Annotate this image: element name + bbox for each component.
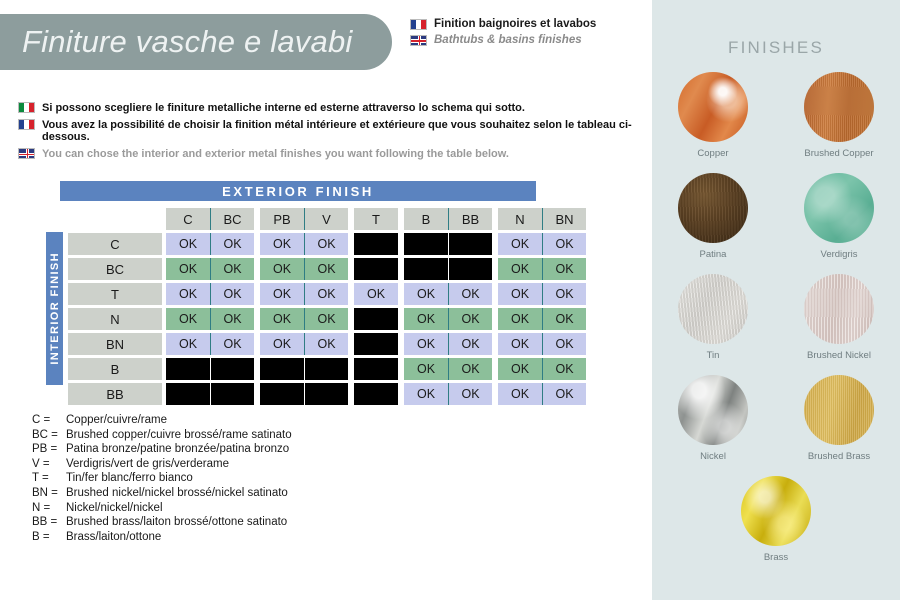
matrix-column-group: OKOK xyxy=(404,283,492,307)
matrix-column-header-b: B xyxy=(404,208,448,230)
matrix-header-row: CBCPBVTBBBNBN xyxy=(68,208,592,232)
matrix-cell-bn-bb[interactable]: OK xyxy=(448,333,492,355)
matrix-column-group xyxy=(260,358,348,382)
matrix-cell-b-n[interactable]: OK xyxy=(498,358,542,380)
matrix-cell-c-t[interactable] xyxy=(354,233,398,255)
legend-item-key: B = xyxy=(32,530,66,545)
flag-france-icon xyxy=(410,19,427,30)
matrix-cell-c-bn[interactable]: OK xyxy=(542,233,586,255)
matrix-column-group: OKOK xyxy=(166,258,254,282)
matrix-cell-b-bb[interactable]: OK xyxy=(448,358,492,380)
matrix-column-group: OKOK xyxy=(260,308,348,332)
instructions-block: Si possono scegliere le finiture metalli… xyxy=(18,102,658,165)
legend-item: BN =Brushed nickel/nickel brossé/nickel … xyxy=(32,486,292,501)
finish-swatch-brass[interactable]: Brass xyxy=(739,476,813,563)
table-row: NOKOKOKOKOKOKOKOK xyxy=(68,308,592,332)
finish-swatch-verdigris[interactable]: Verdigris xyxy=(802,173,876,260)
matrix-column-header-v: V xyxy=(304,208,348,230)
matrix-column-header-c: C xyxy=(166,208,210,230)
matrix-cell-n-c[interactable]: OK xyxy=(166,308,210,330)
matrix-column-group: OKOK xyxy=(166,233,254,257)
table-row: BOKOKOKOK xyxy=(68,358,592,382)
instruction-en: You can chose the interior and exterior … xyxy=(18,148,658,160)
legend-item: N =Nickel/nickel/nickel xyxy=(32,501,292,516)
matrix-cell-b-bn[interactable]: OK xyxy=(542,358,586,380)
matrix-column-group: OK xyxy=(354,283,398,307)
finish-swatch-row: Brass xyxy=(652,476,900,563)
finish-swatch-label: Nickel xyxy=(700,451,726,462)
swatch-circle-icon xyxy=(741,476,811,546)
legend-item-key: BC = xyxy=(32,428,66,443)
exterior-finish-banner: EXTERIOR FINISH xyxy=(60,181,536,201)
matrix-column-group: OKOK xyxy=(166,333,254,357)
matrix-column-group: OKOK xyxy=(498,358,586,382)
matrix-column-group: OKOK xyxy=(404,333,492,357)
matrix-cell-bn-t[interactable] xyxy=(354,333,398,355)
finish-swatch-brushed-copper[interactable]: Brushed Copper xyxy=(802,72,876,159)
finish-swatch-row: TinBrushed Nickel xyxy=(652,274,900,361)
matrix-column-group: CBC xyxy=(166,208,254,232)
legend-list: C =Copper/cuivre/rameBC =Brushed copper/… xyxy=(32,413,292,544)
matrix-column-group: OKOK xyxy=(498,383,586,407)
matrix-cell-c-b[interactable] xyxy=(404,233,448,255)
matrix-cell-c-pb[interactable]: OK xyxy=(260,233,304,255)
matrix-column-header-t: T xyxy=(354,208,398,230)
finish-swatch-copper[interactable]: Copper xyxy=(676,72,750,159)
swatch-circle-icon xyxy=(804,375,874,445)
matrix-column-group xyxy=(166,358,254,382)
matrix-cell-n-pb[interactable]: OK xyxy=(260,308,304,330)
matrix-column-group: OKOK xyxy=(260,333,348,357)
matrix-cell-bb-t[interactable] xyxy=(354,383,398,405)
finish-swatch-nickel[interactable]: Nickel xyxy=(676,375,750,462)
matrix-cell-n-bc[interactable]: OK xyxy=(210,308,254,330)
legend-item-value: Tin/fer blanc/ferro bianco xyxy=(66,471,193,486)
flag-italy-icon xyxy=(18,102,35,113)
matrix-column-group: OKOK xyxy=(498,258,586,282)
matrix-cell-c-c[interactable]: OK xyxy=(166,233,210,255)
legend-item-value: Brushed brass/laiton brossé/ottone satin… xyxy=(66,515,287,530)
finish-swatch-label: Brass xyxy=(764,552,788,563)
finish-swatch-patina[interactable]: Patina xyxy=(676,173,750,260)
legend-item: V =Verdigris/vert de gris/verderame xyxy=(32,457,292,472)
matrix-row-header-bc: BC xyxy=(68,258,162,280)
matrix-cell-bc-c[interactable]: OK xyxy=(166,258,210,280)
matrix-column-group: OKOK xyxy=(498,283,586,307)
matrix-cell-n-bn[interactable]: OK xyxy=(542,308,586,330)
legend-item-value: Nickel/nickel/nickel xyxy=(66,501,163,516)
legend-item-key: C = xyxy=(32,413,66,428)
matrix-column-group: OKOK xyxy=(260,283,348,307)
matrix-cell-n-n[interactable]: OK xyxy=(498,308,542,330)
matrix-column-group: OKOK xyxy=(498,333,586,357)
matrix-cell-bb-bb[interactable]: OK xyxy=(448,383,492,405)
matrix-cell-c-n[interactable]: OK xyxy=(498,233,542,255)
matrix-cell-bb-pb[interactable] xyxy=(260,383,304,405)
swatch-circle-icon xyxy=(678,72,748,142)
matrix-cell-bc-bn[interactable]: OK xyxy=(542,258,586,280)
instruction-text-en: You can chose the interior and exterior … xyxy=(42,148,509,160)
finishes-panel-title: FINISHES xyxy=(652,38,900,58)
matrix-column-group: BBB xyxy=(404,208,492,232)
legend-item-key: V = xyxy=(32,457,66,472)
page-title-bar: Finiture vasche e lavabi xyxy=(0,14,392,70)
matrix-cell-bb-b[interactable]: OK xyxy=(404,383,448,405)
page-title: Finiture vasche e lavabi xyxy=(0,24,352,60)
matrix-column-group xyxy=(354,258,398,282)
swatch-circle-icon xyxy=(804,274,874,344)
interior-finish-banner-label: INTERIOR FINISH xyxy=(49,252,61,365)
legend-item-value: Patina bronze/patine bronzée/patina bron… xyxy=(66,442,289,457)
matrix-cell-bc-t[interactable] xyxy=(354,258,398,280)
legend-item-key: PB = xyxy=(32,442,66,457)
table-row: BCOKOKOKOKOKOK xyxy=(68,258,592,282)
matrix-column-group: OKOK xyxy=(498,233,586,257)
matrix-row-header-t: T xyxy=(68,283,162,305)
matrix-cell-t-t[interactable]: OK xyxy=(354,283,398,305)
matrix-column-group: OKOK xyxy=(404,383,492,407)
matrix-row-header-n: N xyxy=(68,308,162,330)
finish-swatch-grid: CopperBrushed CopperPatinaVerdigrisTinBr… xyxy=(652,72,900,577)
matrix-column-group: PBV xyxy=(260,208,348,232)
matrix-column-header-bb: BB xyxy=(448,208,492,230)
matrix-row-header-c: C xyxy=(68,233,162,255)
matrix-cell-bn-bc[interactable]: OK xyxy=(210,333,254,355)
matrix-column-group xyxy=(354,308,398,332)
matrix-cell-b-pb[interactable] xyxy=(260,358,304,380)
matrix-cell-bc-bb[interactable] xyxy=(448,258,492,280)
legend-item-value: Verdigris/vert de gris/verderame xyxy=(66,457,229,472)
instruction-text-it: Si possono scegliere le finiture metalli… xyxy=(42,102,525,114)
matrix-cell-t-b[interactable]: OK xyxy=(404,283,448,305)
left-page: Finiture vasche e lavabi Finition baigno… xyxy=(0,0,652,600)
matrix-corner-cell xyxy=(68,208,162,230)
matrix-cell-b-c[interactable] xyxy=(166,358,210,380)
matrix-column-group: OKOK xyxy=(404,358,492,382)
matrix-cell-c-bc[interactable]: OK xyxy=(210,233,254,255)
matrix-column-group xyxy=(354,333,398,357)
finish-swatch-label: Tin xyxy=(707,350,720,361)
matrix-cell-bn-n[interactable]: OK xyxy=(498,333,542,355)
finish-swatch-label: Brushed Copper xyxy=(804,148,873,159)
matrix-cell-n-v[interactable]: OK xyxy=(304,308,348,330)
matrix-cell-b-v[interactable] xyxy=(304,358,348,380)
matrix-cell-t-n[interactable]: OK xyxy=(498,283,542,305)
legend-item: C =Copper/cuivre/rame xyxy=(32,413,292,428)
finish-swatch-label: Copper xyxy=(697,148,728,159)
header-translations: Finition baignoires et lavabos Bathtubs … xyxy=(410,18,650,50)
header-title-fr: Finition baignoires et lavabos xyxy=(434,18,596,30)
matrix-column-group xyxy=(260,383,348,407)
matrix-cell-bc-bc[interactable]: OK xyxy=(210,258,254,280)
matrix-cell-n-b[interactable]: OK xyxy=(404,308,448,330)
matrix-cell-bc-b[interactable] xyxy=(404,258,448,280)
matrix-cell-bb-bn[interactable]: OK xyxy=(542,383,586,405)
matrix-column-group: OKOK xyxy=(498,308,586,332)
swatch-circle-icon xyxy=(804,72,874,142)
matrix-column-group: NBN xyxy=(498,208,586,232)
finish-swatch-row: NickelBrushed Brass xyxy=(652,375,900,462)
legend-item-value: Brushed copper/cuivre brossé/rame satina… xyxy=(66,428,292,443)
matrix-cell-bc-pb[interactable]: OK xyxy=(260,258,304,280)
finish-swatch-row: CopperBrushed Copper xyxy=(652,72,900,159)
header-translation-en: Bathtubs & basins finishes xyxy=(410,34,650,46)
matrix-column-header-n: N xyxy=(498,208,542,230)
matrix-cell-t-bb[interactable]: OK xyxy=(448,283,492,305)
finish-swatch-label: Verdigris xyxy=(821,249,858,260)
table-row: TOKOKOKOKOKOKOKOKOK xyxy=(68,283,592,307)
instruction-it: Si possono scegliere le finiture metalli… xyxy=(18,102,658,114)
matrix-column-group: OKOK xyxy=(166,308,254,332)
flag-france-icon xyxy=(18,119,35,130)
matrix-column-group: OKOK xyxy=(404,308,492,332)
legend-item: T =Tin/fer blanc/ferro bianco xyxy=(32,471,292,486)
finish-swatch-tin[interactable]: Tin xyxy=(676,274,750,361)
legend-item-value: Brushed nickel/nickel brossé/nickel sati… xyxy=(66,486,288,501)
finishes-panel: FINISHES CopperBrushed CopperPatinaVerdi… xyxy=(652,0,900,600)
legend-item-key: BB = xyxy=(32,515,66,530)
matrix-column-group: OKOK xyxy=(166,283,254,307)
matrix-cell-t-bc[interactable]: OK xyxy=(210,283,254,305)
instruction-fr: Vous avez la possibilité de choisir la f… xyxy=(18,119,658,143)
table-row: COKOKOKOKOKOK xyxy=(68,233,592,257)
matrix-grid: CBCPBVTBBBNBNCOKOKOKOKOKOKBCOKOKOKOKOKOK… xyxy=(68,208,592,408)
matrix-cell-b-bc[interactable] xyxy=(210,358,254,380)
matrix-column-group: OKOK xyxy=(260,258,348,282)
matrix-cell-bc-n[interactable]: OK xyxy=(498,258,542,280)
matrix-column-header-pb: PB xyxy=(260,208,304,230)
matrix-cell-bn-pb[interactable]: OK xyxy=(260,333,304,355)
matrix-cell-b-b[interactable]: OK xyxy=(404,358,448,380)
finish-swatch-brushed-brass[interactable]: Brushed Brass xyxy=(802,375,876,462)
matrix-cell-t-bn[interactable]: OK xyxy=(542,283,586,305)
finish-swatch-row: PatinaVerdigris xyxy=(652,173,900,260)
matrix-cell-c-v[interactable]: OK xyxy=(304,233,348,255)
legend-item: BB =Brushed brass/laiton brossé/ottone s… xyxy=(32,515,292,530)
matrix-column-group xyxy=(166,383,254,407)
swatch-circle-icon xyxy=(678,274,748,344)
matrix-cell-b-t[interactable] xyxy=(354,358,398,380)
matrix-row-header-b: B xyxy=(68,358,162,380)
swatch-circle-icon xyxy=(804,173,874,243)
table-row: BNOKOKOKOKOKOKOKOK xyxy=(68,333,592,357)
matrix-column-group: OKOK xyxy=(260,233,348,257)
matrix-cell-t-c[interactable]: OK xyxy=(166,283,210,305)
interior-finish-banner: INTERIOR FINISH xyxy=(46,232,63,385)
matrix-cell-bb-c[interactable] xyxy=(166,383,210,405)
finish-swatch-label: Patina xyxy=(700,249,727,260)
finish-swatch-brushed-nickel[interactable]: Brushed Nickel xyxy=(802,274,876,361)
matrix-column-header-bc: BC xyxy=(210,208,254,230)
finish-swatch-label: Brushed Nickel xyxy=(807,350,871,361)
matrix-cell-t-v[interactable]: OK xyxy=(304,283,348,305)
legend-item-value: Copper/cuivre/rame xyxy=(66,413,167,428)
legend-item: BC =Brushed copper/cuivre brossé/rame sa… xyxy=(32,428,292,443)
legend-item-value: Brass/laiton/ottone xyxy=(66,530,161,545)
matrix-cell-bn-v[interactable]: OK xyxy=(304,333,348,355)
matrix-cell-bn-b[interactable]: OK xyxy=(404,333,448,355)
finish-swatch-label: Brushed Brass xyxy=(808,451,870,462)
legend-item-key: N = xyxy=(32,501,66,516)
header-title-en: Bathtubs & basins finishes xyxy=(434,34,582,46)
matrix-cell-n-bb[interactable]: OK xyxy=(448,308,492,330)
legend-item: PB =Patina bronze/patine bronzée/patina … xyxy=(32,442,292,457)
flag-uk-icon xyxy=(18,148,35,159)
swatch-circle-icon xyxy=(678,375,748,445)
matrix-cell-bc-v[interactable]: OK xyxy=(304,258,348,280)
matrix-cell-bb-n[interactable]: OK xyxy=(498,383,542,405)
matrix-column-group xyxy=(404,258,492,282)
matrix-row-header-bn: BN xyxy=(68,333,162,355)
matrix-cell-bb-bc[interactable] xyxy=(210,383,254,405)
matrix-cell-bn-bn[interactable]: OK xyxy=(542,333,586,355)
matrix-cell-t-pb[interactable]: OK xyxy=(260,283,304,305)
matrix-cell-n-t[interactable] xyxy=(354,308,398,330)
matrix-column-group xyxy=(404,233,492,257)
matrix-cell-c-bb[interactable] xyxy=(448,233,492,255)
matrix-column-group: T xyxy=(354,208,398,232)
flag-uk-icon xyxy=(410,35,427,46)
legend-item-key: BN = xyxy=(32,486,66,501)
matrix-row-header-bb: BB xyxy=(68,383,162,405)
matrix-column-group xyxy=(354,233,398,257)
table-row: BBOKOKOKOK xyxy=(68,383,592,407)
instruction-text-fr: Vous avez la possibilité de choisir la f… xyxy=(42,119,658,143)
header-translation-fr: Finition baignoires et lavabos xyxy=(410,18,650,30)
legend-item: B =Brass/laiton/ottone xyxy=(32,530,292,545)
matrix-cell-bb-v[interactable] xyxy=(304,383,348,405)
legend-item-key: T = xyxy=(32,471,66,486)
matrix-cell-bn-c[interactable]: OK xyxy=(166,333,210,355)
matrix-column-group xyxy=(354,358,398,382)
matrix-column-header-bn: BN xyxy=(542,208,586,230)
swatch-circle-icon xyxy=(678,173,748,243)
matrix-column-group xyxy=(354,383,398,407)
